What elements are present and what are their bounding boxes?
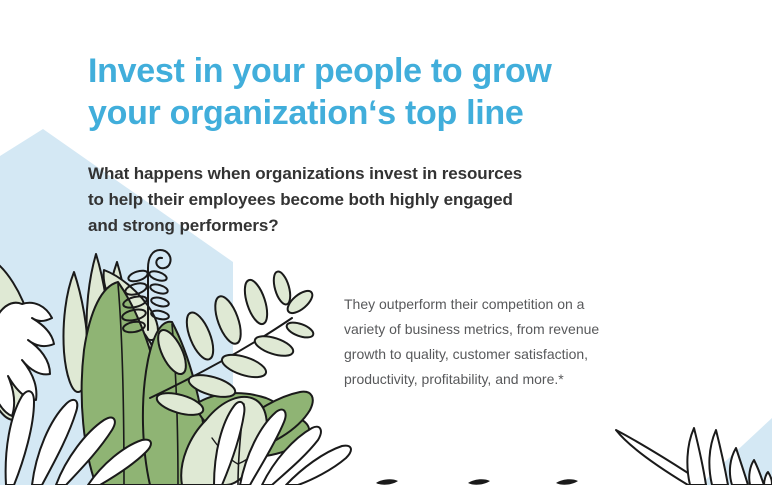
palm-blade-upright xyxy=(709,430,728,485)
page-title: Invest in your people to grow your organ… xyxy=(88,50,688,134)
leaf-tip-peek xyxy=(556,479,578,484)
frond-leaflet xyxy=(271,270,294,307)
frond-leaflet xyxy=(240,277,271,326)
palm-blade-upright xyxy=(687,428,706,485)
body-paragraph: They outperform their competition on a v… xyxy=(344,292,704,392)
poster-canvas: Invest in your people to grow your organ… xyxy=(0,0,772,485)
leaf-tip-peek xyxy=(376,479,398,484)
leaf-tip-peek xyxy=(468,479,490,484)
subheading: What happens when organizations invest i… xyxy=(88,161,688,239)
frond-leaflet xyxy=(285,320,315,341)
frond-leaflet xyxy=(253,332,296,360)
